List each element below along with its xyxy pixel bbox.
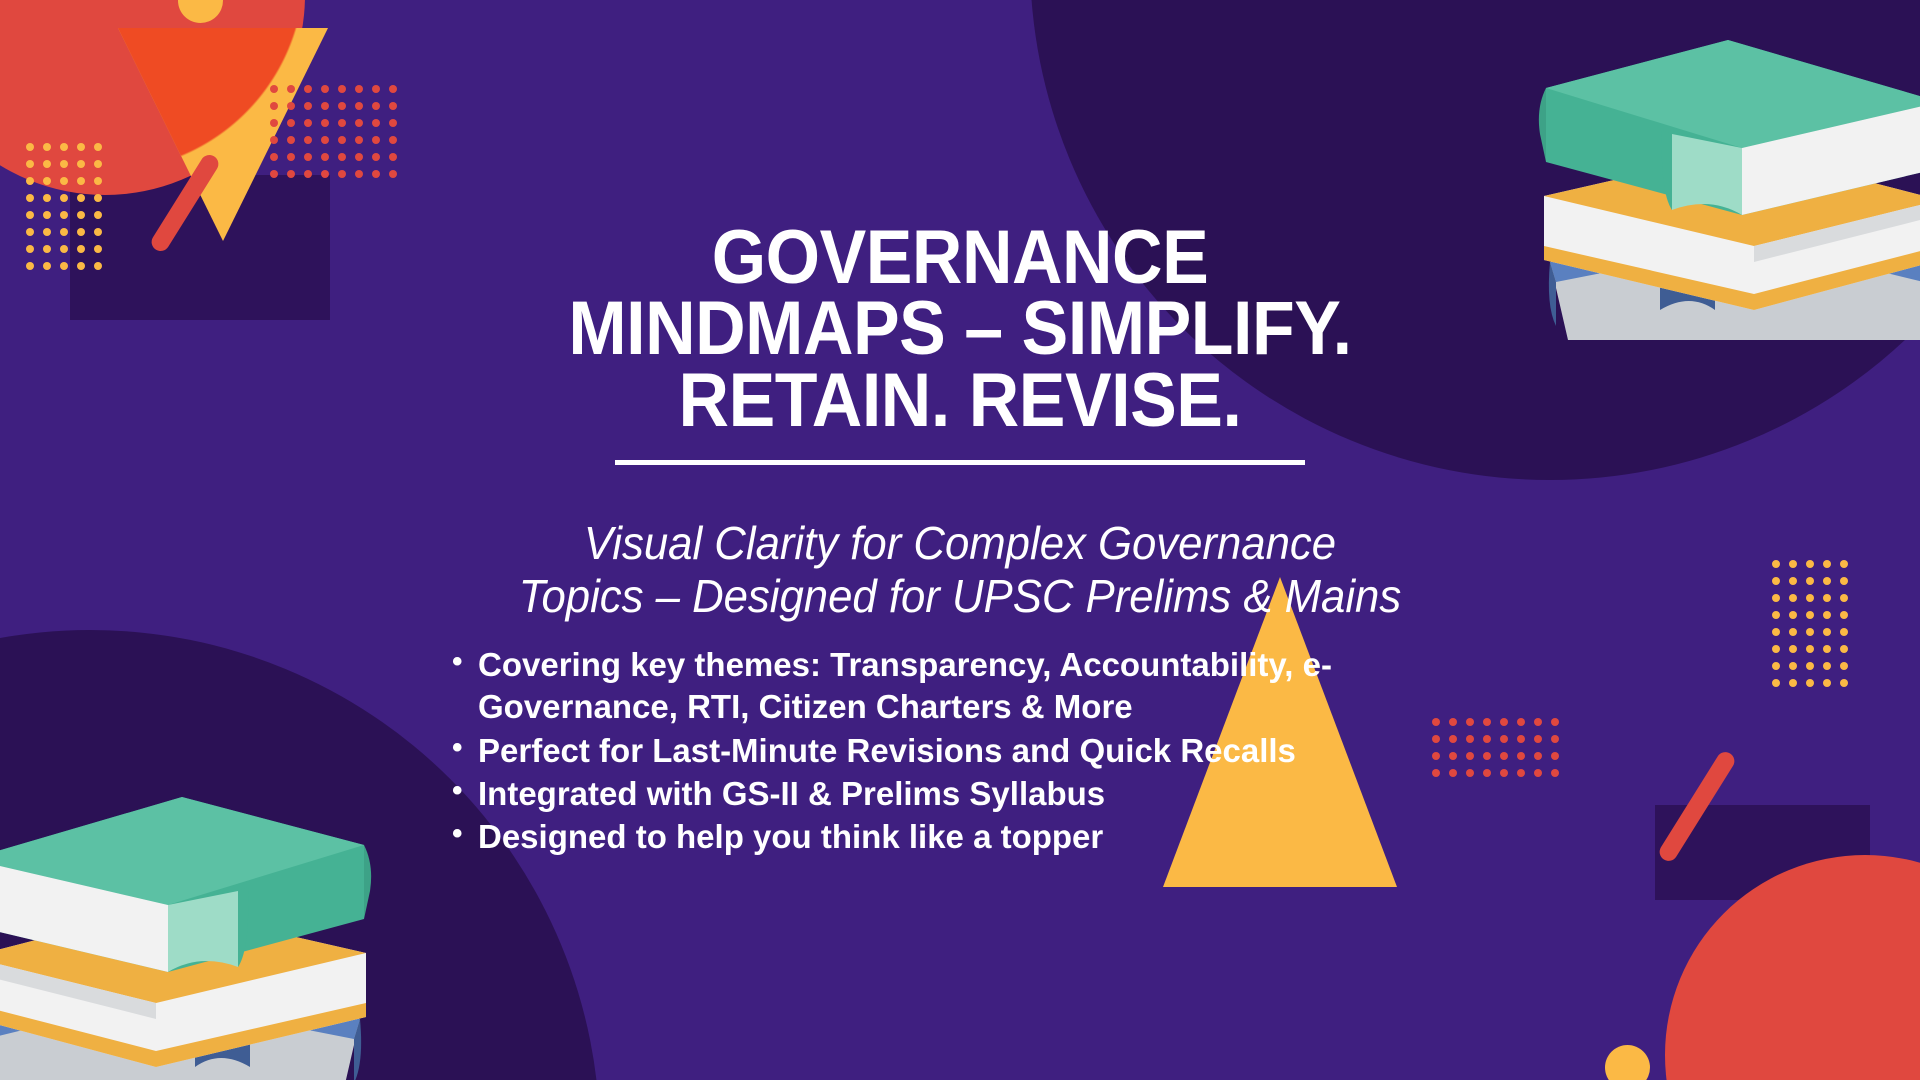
list-item: Designed to help you think like a topper — [448, 816, 1348, 858]
feature-bullet-list: Covering key themes: Transparency, Accou… — [448, 644, 1348, 858]
subtitle: Visual Clarity for Complex Governance To… — [400, 517, 1521, 622]
list-item: Integrated with GS-II & Prelims Syllabus — [448, 773, 1348, 815]
title-underline-divider — [615, 460, 1305, 465]
page-title: GOVERNANCE MINDMAPS – SIMPLIFY. RETAIN. … — [77, 0, 1843, 436]
headline-line-1: GOVERNANCE — [77, 222, 1843, 293]
headline-line-3: RETAIN. REVISE. — [77, 365, 1843, 436]
subtitle-line-2: Topics – Designed for UPSC Prelims & Mai… — [400, 570, 1521, 622]
list-item: Perfect for Last-Minute Revisions and Qu… — [448, 730, 1348, 772]
yellow-dot-circle-bottom-right-icon — [1605, 1045, 1650, 1080]
slide-canvas: GOVERNANCE MINDMAPS – SIMPLIFY. RETAIN. … — [0, 0, 1920, 1080]
slide-content: GOVERNANCE MINDMAPS – SIMPLIFY. RETAIN. … — [0, 0, 1920, 859]
subtitle-line-1: Visual Clarity for Complex Governance — [400, 517, 1521, 569]
headline-line-2: MINDMAPS – SIMPLIFY. — [77, 293, 1843, 364]
list-item: Covering key themes: Transparency, Accou… — [448, 644, 1348, 728]
